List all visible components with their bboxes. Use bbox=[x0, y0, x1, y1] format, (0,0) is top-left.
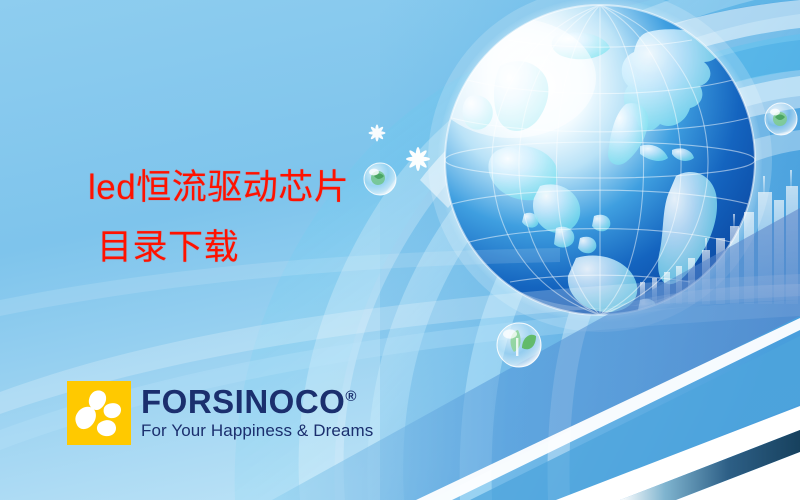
logo-text-block: FORSINOCO® For Your Happiness & Dreams bbox=[141, 385, 373, 441]
headline-line-2: 目录下载 bbox=[97, 228, 239, 268]
logo-tagline: For Your Happiness & Dreams bbox=[141, 421, 373, 441]
four-petal-pinwheel-icon bbox=[67, 381, 131, 445]
headline-line-1: led恒流驱动芯片 bbox=[88, 168, 349, 208]
bubble-with-globe bbox=[364, 163, 396, 195]
slide-canvas: led恒流驱动芯片 目录下载 FORSINOCO® bbox=[0, 0, 800, 500]
company-logo: FORSINOCO® For Your Happiness & Dreams bbox=[67, 381, 373, 445]
logo-wordmark: FORSINOCO® bbox=[141, 385, 373, 419]
logo-wordmark-text: FORSINOCO bbox=[141, 383, 345, 420]
bubble-with-globe bbox=[765, 103, 797, 135]
bubble-with-leaves bbox=[497, 323, 541, 367]
registered-trademark-icon: ® bbox=[345, 388, 357, 405]
